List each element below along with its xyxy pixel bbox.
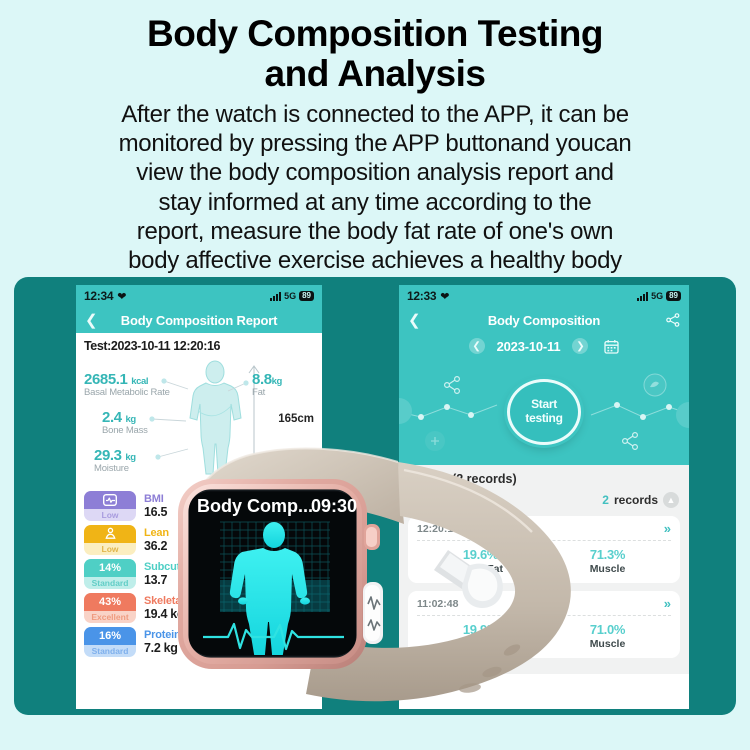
fat-unit: kg: [272, 376, 282, 387]
record-time: 11:02:48: [417, 598, 458, 610]
bone-mass-label: Bone Mass: [102, 425, 148, 436]
chevron-up-icon[interactable]: ▲: [663, 492, 679, 508]
record-muscle-value: 71.0%: [544, 622, 671, 637]
skeletal-muscle-value: 19.4 kg: [144, 607, 223, 621]
page-title: Body Composition Testing and Analysis: [0, 0, 750, 94]
subcutaneous-fat-value: 13.7: [144, 573, 236, 587]
bmi-value: 16.5: [144, 505, 167, 519]
protein-chip: 16% Standard: [84, 627, 136, 657]
description-line-4: stay informed at any time according to t…: [22, 188, 728, 217]
fat-value: 8.8: [252, 371, 272, 388]
bone-mass-value: 2.4: [102, 409, 122, 426]
test-timestamp-label: Test:2023-10-11 12:20:16: [76, 333, 322, 353]
chevron-left-icon[interactable]: ❮: [408, 313, 421, 328]
record-stat-body-fat: 19.9% Body Fat: [417, 622, 544, 650]
protein-value: 7.2 kg: [144, 641, 181, 655]
record-card[interactable]: 11:02:48 » 19.9% Body Fat 71.0% Muscle: [408, 591, 680, 658]
metric-basal-metabolic-rate: 2685.1 kcal Basal Metabolic Rate: [84, 371, 170, 398]
calendar-icon[interactable]: [604, 339, 619, 354]
network-type-label: 5G: [651, 291, 663, 301]
subcutaneous-fat-name: Subcutaneous Fat: [144, 561, 236, 573]
metric-list: Low BMI 16.5 Low Lean 36.2: [76, 483, 322, 659]
bmr-label: Basal Metabolic Rate: [84, 387, 170, 398]
skeletal-muscle-name: Skeletal Muscle: [144, 595, 223, 607]
status-bar-time: 12:33: [407, 289, 436, 303]
description-line-5: report, measure the body fat rate of one…: [22, 217, 728, 246]
bmr-unit: kcal: [131, 376, 148, 387]
bmi-monitor-icon: [84, 491, 136, 509]
record-muscle-label: Muscle: [544, 563, 671, 575]
subcutaneous-fat-percent: 14%: [84, 559, 136, 577]
metric-fat: 8.8kg Fat: [252, 371, 282, 398]
chevron-double-right-icon[interactable]: »: [664, 521, 671, 536]
record-body-fat-value: 19.9%: [417, 622, 544, 637]
bmr-value: 2685.1: [84, 371, 127, 388]
signal-bars-icon: [637, 292, 648, 301]
description-line-2: monitored by pressing the APP buttonand …: [22, 129, 728, 158]
bmi-name: BMI: [144, 493, 167, 505]
record-body-fat-value: 19.6%: [417, 547, 544, 562]
start-testing-hero: Start testing: [399, 359, 689, 465]
protein-percent: 16%: [84, 627, 136, 645]
bmi-chip: Low: [84, 491, 136, 521]
record-muscle-label: Muscle: [544, 638, 671, 650]
record-body-fat-label: Body Fat: [417, 638, 544, 650]
subcutaneous-fat-chip-status: Standard: [84, 577, 136, 589]
protein-chip-status: Standard: [84, 645, 136, 657]
divider: [417, 615, 671, 616]
start-testing-line-2: testing: [525, 412, 562, 426]
metric-bone-mass: 2.4 kg Bone Mass: [102, 409, 148, 436]
record-stat-body-fat: 19.6% Body Fat: [417, 547, 544, 575]
records-summary-bar: 2 records ▲: [399, 486, 689, 516]
metric-row-subcutaneous-fat[interactable]: 14% Standard Subcutaneous Fat 13.7: [84, 557, 314, 591]
body-composition-diagram: 2685.1 kcal Basal Metabolic Rate 2.4 kg …: [76, 357, 322, 483]
body-scale-icon: [84, 525, 136, 543]
metric-row-lean[interactable]: Low Lean 36.2: [84, 523, 314, 557]
bone-mass-unit: kg: [125, 414, 135, 425]
record-card[interactable]: 12:20:16 » 19.6% Body Fat 71.3% Muscle: [408, 516, 680, 583]
date-selector: ❮ 2023-10-11 ❯: [399, 333, 689, 359]
signal-bars-icon: [270, 292, 281, 301]
metric-row-skeletal-muscle[interactable]: 43% Excellent Skeletal Muscle 19.4 kg: [84, 591, 314, 625]
share-icon[interactable]: [666, 313, 680, 327]
description-line-1: After the watch is connected to the APP,…: [22, 100, 728, 129]
fat-label: Fat: [252, 387, 282, 398]
chevron-double-right-icon[interactable]: »: [664, 596, 671, 611]
battery-indicator: 89: [666, 291, 681, 301]
skeletal-muscle-percent: 43%: [84, 593, 136, 611]
network-type-label: 5G: [284, 291, 296, 301]
metric-moisture: 29.3 kg Moisture: [94, 447, 136, 474]
metric-row-bmi[interactable]: Low BMI 16.5: [84, 489, 314, 523]
height-label: 165cm: [278, 413, 314, 425]
lean-value: 36.2: [144, 539, 169, 553]
metric-row-protein[interactable]: 16% Standard Protein 7.2 kg: [84, 625, 314, 659]
status-bar-time: 12:34: [84, 289, 113, 303]
records-count: 2: [602, 493, 609, 507]
nav-title: Body Composition Report: [76, 313, 322, 328]
chevron-left-icon[interactable]: ❮: [469, 338, 485, 354]
moisture-label: Moisture: [94, 463, 136, 474]
start-testing-line-1: Start: [531, 398, 557, 412]
moisture-unit: kg: [125, 452, 135, 463]
status-bar: 12:33 ❤ 5G 89: [399, 285, 689, 307]
description-line-3: view the body composition analysis repor…: [22, 158, 728, 187]
app-nav-bar: ❮ Body Composition Report: [76, 307, 322, 333]
page-title-line-2: and Analysis: [28, 54, 722, 94]
status-bar: 12:34 ❤ 5G 89: [76, 285, 322, 307]
subcutaneous-fat-chip: 14% Standard: [84, 559, 136, 589]
phone-screenshot-testing: 12:33 ❤ 5G 89 ❮ Body Composition ❮ 2023-…: [399, 285, 689, 709]
divider: [417, 540, 671, 541]
phone-screenshot-report: 12:34 ❤ 5G 89 ❮ Body Composition Report …: [76, 285, 322, 709]
app-nav-bar: ❮ Body Composition: [399, 307, 689, 333]
nav-title: Body Composition: [399, 313, 689, 328]
record-body-fat-label: Body Fat: [417, 563, 544, 575]
heart-icon: ❤: [440, 290, 449, 303]
showcase-panel: 12:34 ❤ 5G 89 ❮ Body Composition Report …: [14, 277, 736, 715]
bmi-chip-status: Low: [84, 509, 136, 521]
records-count-label: records: [614, 493, 658, 507]
records-heading: History(2 records): [399, 465, 689, 486]
records-list: 12:20:16 » 19.6% Body Fat 71.3% Muscle: [399, 516, 689, 674]
protein-name: Protein: [144, 629, 181, 641]
start-testing-button[interactable]: Start testing: [507, 379, 581, 445]
chevron-right-icon[interactable]: ❯: [572, 338, 588, 354]
battery-indicator: 89: [299, 291, 314, 301]
page-description: After the watch is connected to the APP,…: [0, 94, 750, 276]
description-line-6: body affective exercise achieves a healt…: [22, 246, 728, 275]
page-title-line-1: Body Composition Testing: [28, 14, 722, 54]
chevron-left-icon[interactable]: ❮: [85, 313, 98, 328]
heart-icon: ❤: [117, 290, 126, 303]
lean-chip: Low: [84, 525, 136, 555]
lean-chip-status: Low: [84, 543, 136, 555]
skeletal-muscle-chip: 43% Excellent: [84, 593, 136, 623]
record-stat-muscle: 71.3% Muscle: [544, 547, 671, 575]
moisture-value: 29.3: [94, 447, 122, 464]
skeletal-muscle-chip-status: Excellent: [84, 611, 136, 623]
selected-date: 2023-10-11: [497, 339, 561, 354]
lean-name: Lean: [144, 527, 169, 539]
record-time: 12:20:16: [417, 523, 459, 535]
record-muscle-value: 71.3%: [544, 547, 671, 562]
record-stat-muscle: 71.0% Muscle: [544, 622, 671, 650]
